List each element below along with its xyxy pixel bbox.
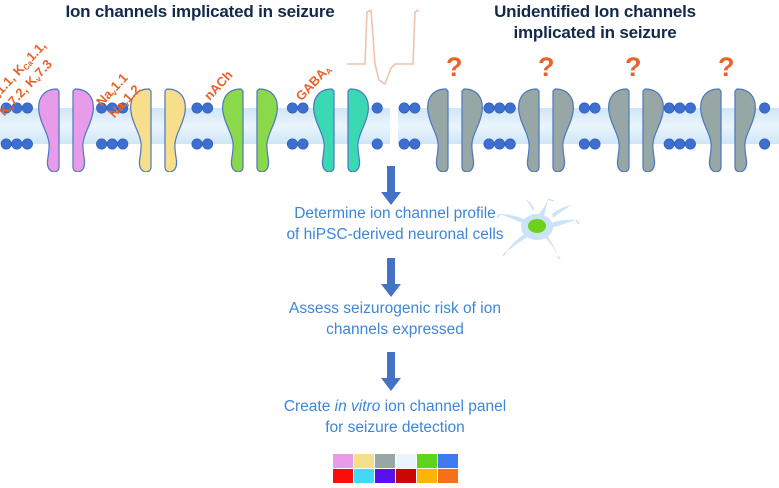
color-swatch-4 xyxy=(396,454,416,468)
question-mark-3: ? xyxy=(625,54,642,81)
right-membrane xyxy=(398,86,779,172)
question-mark-4: ? xyxy=(718,54,735,81)
left-panel-title: Ion channels implicated in seizure xyxy=(40,1,360,22)
right-panel-title-line2: implicated in seizure xyxy=(513,23,676,42)
color-swatch-6 xyxy=(438,454,458,468)
flow-arrow-3 xyxy=(379,352,403,392)
color-swatch-1 xyxy=(333,454,353,468)
flow-step-3-line2: for seizure detection xyxy=(325,419,465,436)
color-swatch-grid xyxy=(333,454,458,483)
color-swatch-11 xyxy=(417,469,437,483)
figure-canvas: Ion channels implicated in seizure Unide… xyxy=(0,0,779,488)
flow-step-1-line1: Determine ion channel profile xyxy=(294,205,496,222)
neuron-icon xyxy=(496,198,580,260)
eeg-waveform-icon xyxy=(345,2,423,90)
flow-arrow-2 xyxy=(379,258,403,298)
left-membrane xyxy=(0,86,390,172)
flow-step-3: Create in vitro ion channel panel for se… xyxy=(225,396,565,438)
flow-step-1-line2: of hiPSC-derived neuronal cells xyxy=(286,226,503,243)
color-swatch-5 xyxy=(417,454,437,468)
question-mark-2: ? xyxy=(538,54,555,81)
neuron-nucleus xyxy=(528,219,546,233)
question-mark-1: ? xyxy=(446,54,463,81)
color-swatch-10 xyxy=(396,469,416,483)
flow-step-3-suffix: ion channel panel xyxy=(380,398,506,415)
right-panel-title: Unidentified Ion channels implicated in … xyxy=(440,1,750,43)
color-swatch-12 xyxy=(438,469,458,483)
flow-step-2: Assess seizurogenic risk of ion channels… xyxy=(225,298,565,340)
color-swatch-7 xyxy=(333,469,353,483)
flow-arrow-1 xyxy=(379,166,403,206)
flow-step-3-prefix: Create xyxy=(284,398,335,415)
color-swatch-2 xyxy=(354,454,374,468)
flow-step-2-line2: channels expressed xyxy=(326,321,464,338)
color-swatch-3 xyxy=(375,454,395,468)
color-swatch-8 xyxy=(354,469,374,483)
color-swatch-9 xyxy=(375,469,395,483)
flow-step-3-italic: in vitro xyxy=(335,398,381,415)
flow-step-2-line1: Assess seizurogenic risk of ion xyxy=(289,300,501,317)
right-panel-title-line1: Unidentified Ion channels xyxy=(494,2,696,21)
